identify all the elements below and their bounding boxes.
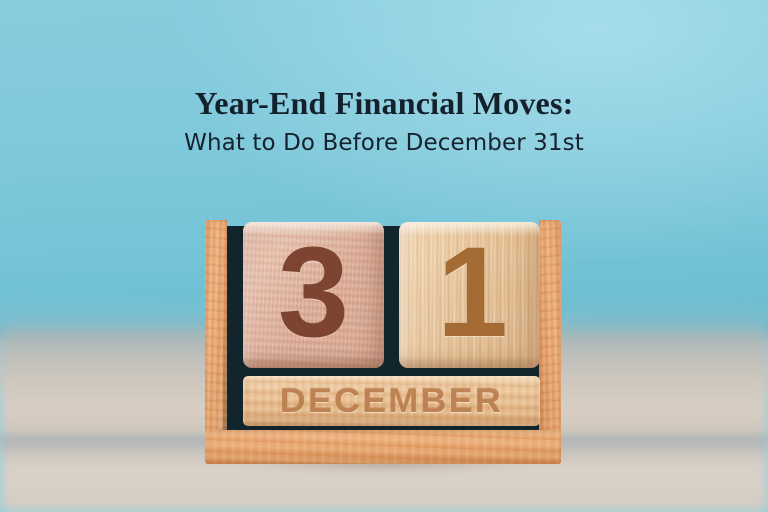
wooden-block-calendar: 3 1 DECEMBER: [205, 220, 561, 464]
title-overlay: Year-End Financial Moves: What to Do Bef…: [0, 86, 768, 157]
month-block: DECEMBER: [243, 376, 540, 426]
scene-photo: 3 1 DECEMBER Year-End Financial Moves: W…: [0, 0, 768, 512]
day-block-tens: 3: [243, 222, 384, 368]
headline-text: Year-End Financial Moves:: [0, 86, 768, 121]
month-label: DECEMBER: [280, 382, 503, 421]
calendar-frame-left-post: [205, 220, 227, 464]
day-digit-ones: 1: [437, 229, 508, 357]
calendar-frame-right-post: [539, 220, 561, 464]
calendar-frame-base: [205, 430, 561, 464]
day-block-ones: 1: [399, 222, 540, 368]
day-digit-tens: 3: [278, 229, 349, 357]
subheadline-text: What to Do Before December 31st: [0, 130, 768, 156]
